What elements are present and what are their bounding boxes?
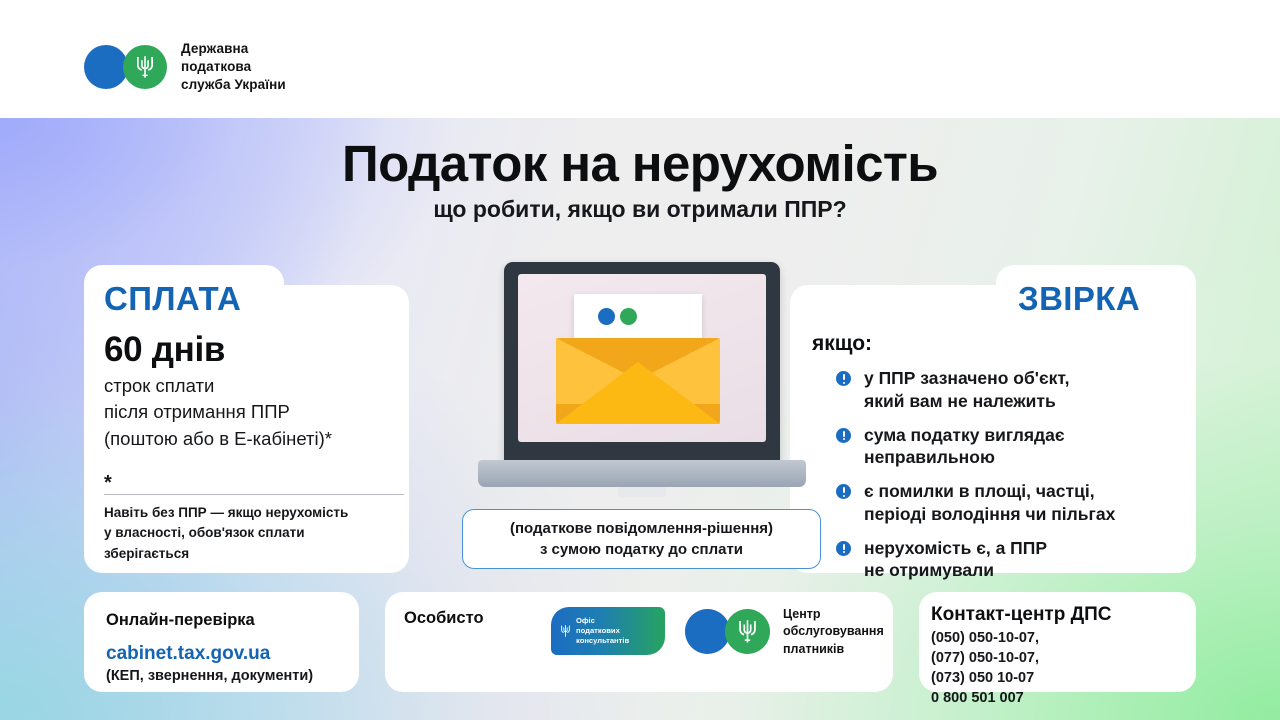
ppr-definition-line1: (податкове повідомлення-рішення) xyxy=(510,520,773,537)
phone-number[interactable]: (050) 050-10-07, xyxy=(931,628,1039,648)
list-item-line1: нерухомість є, а ППР xyxy=(864,538,1047,558)
page-title: Податок на нерухомість xyxy=(0,134,1280,193)
exclamation-circle-icon xyxy=(836,428,851,443)
logo-text-line1: Державна xyxy=(181,40,286,58)
center-line2: обслуговування xyxy=(783,623,884,640)
trident-icon xyxy=(560,624,571,638)
exclamation-circle-icon xyxy=(836,541,851,556)
logo-text-line2: податкова xyxy=(181,58,286,76)
cop-green-circle-icon xyxy=(725,609,770,654)
logo-green-circle-icon xyxy=(123,45,167,89)
exclamation-circle-icon xyxy=(836,484,851,499)
letter-dot-blue-icon xyxy=(598,308,615,325)
cabinet-link[interactable]: cabinet.tax.gov.ua xyxy=(106,643,270,665)
badge-line1: Офіс xyxy=(576,616,629,626)
ppr-definition-box: (податкове повідомлення-рішення) з сумою… xyxy=(462,509,821,569)
center-line1: Центр xyxy=(783,606,884,623)
laptop-hinge xyxy=(618,487,666,497)
list-item-line1: у ППР зазначено об'єкт, xyxy=(864,368,1069,388)
list-item: у ППР зазначено об'єкт, який вам не нале… xyxy=(836,367,1196,413)
badge-line3: консультантів xyxy=(576,636,629,646)
reconciliation-list: у ППР зазначено об'єкт, який вам не нале… xyxy=(836,367,1196,593)
online-check-heading: Онлайн-перевірка xyxy=(106,611,255,630)
list-item: нерухомість є, а ППР не отримували xyxy=(836,537,1196,583)
logo-text-line3: служба України xyxy=(181,76,286,94)
laptop-icon: ППР xyxy=(478,262,806,500)
letter-dot-green-icon xyxy=(620,308,637,325)
exclamation-circle-icon xyxy=(836,371,851,386)
online-check-sub: (КЕП, звернення, документи) xyxy=(106,668,313,684)
ppr-definition-line2: з сумою податку до сплати xyxy=(540,541,743,558)
list-item-text: нерухомість є, а ППР не отримували xyxy=(864,537,1047,583)
list-item-text: є помилки в площі, частці, періоді волод… xyxy=(864,480,1115,526)
taxpayer-service-center-text: Центр обслуговування платників xyxy=(783,606,884,658)
in-person-heading: Особисто xyxy=(404,609,484,628)
footnote-asterisk: * xyxy=(104,472,112,495)
payment-deadline-value: 60 днів xyxy=(104,330,225,370)
payment-description: строк сплати після отримання ППР (поштою… xyxy=(104,373,404,452)
list-item: сума податку виглядає неправильною xyxy=(836,424,1196,470)
infographic-root: Державна податкова служба України Подато… xyxy=(0,0,1280,720)
dps-logo: Державна податкова служба України xyxy=(84,40,286,95)
cop-blue-circle-icon xyxy=(685,609,730,654)
trident-icon xyxy=(135,54,155,80)
badge-line2: податкових xyxy=(576,626,629,636)
payment-footnote-line1: Навіть без ППР — якщо нерухомість xyxy=(104,503,414,523)
list-item-line2: не отримували xyxy=(864,560,994,580)
center-line3: платників xyxy=(783,641,884,658)
tax-consultants-office-text: Офіс податкових консультантів xyxy=(576,616,629,646)
list-item-line2: який вам не належить xyxy=(864,391,1056,411)
payment-desc-line2: після отримання ППР xyxy=(104,399,404,425)
phone-number[interactable]: 0 800 501 007 xyxy=(931,688,1039,708)
letter-logo-dots xyxy=(598,308,637,325)
reconciliation-tab-label: ЗВІРКА xyxy=(1018,280,1140,318)
list-item-line1: є помилки в площі, частці, xyxy=(864,481,1095,501)
laptop-base xyxy=(478,460,806,487)
payment-footnote: Навіть без ППР — якщо нерухомість у влас… xyxy=(104,503,414,564)
logo-text: Державна податкова служба України xyxy=(181,40,286,95)
header-band: Державна податкова служба України xyxy=(0,0,1280,118)
laptop-screen: ППР xyxy=(518,274,766,442)
list-item-line2: неправильною xyxy=(864,447,995,467)
contact-phone-list: (050) 050-10-07, (077) 050-10-07, (073) … xyxy=(931,628,1039,708)
contact-center-heading: Контакт-центр ДПС xyxy=(931,604,1112,626)
list-item-text: сума податку виглядає неправильною xyxy=(864,424,1065,470)
list-item-line1: сума податку виглядає xyxy=(864,425,1065,445)
phone-number[interactable]: (077) 050-10-07, xyxy=(931,648,1039,668)
list-item-text: у ППР зазначено об'єкт, який вам не нале… xyxy=(864,367,1069,413)
payment-tab-label: СПЛАТА xyxy=(104,280,241,318)
ppr-definition-text: (податкове повідомлення-рішення) з сумою… xyxy=(510,518,773,560)
payment-footnote-line2: у власності, обов'язок сплати xyxy=(104,523,414,543)
payment-footnote-line3: зберігається xyxy=(104,544,414,564)
footnote-divider xyxy=(104,494,404,495)
taxpayer-service-center-logo: Центр обслуговування платників xyxy=(685,606,884,658)
logo-blue-circle-icon xyxy=(84,45,128,89)
trident-icon xyxy=(737,618,758,645)
payment-desc-line3: (поштою або в Е-кабінеті)* xyxy=(104,426,404,452)
list-item: є помилки в площі, частці, періоді волод… xyxy=(836,480,1196,526)
payment-desc-line1: строк сплати xyxy=(104,373,404,399)
page-subtitle: що робити, якщо ви отримали ППР? xyxy=(0,196,1280,223)
tax-consultants-office-badge: Офіс податкових консультантів xyxy=(551,607,665,655)
envelope-front-icon xyxy=(556,362,720,424)
list-item-line2: періоді володіння чи пільгах xyxy=(864,504,1115,524)
phone-number[interactable]: (073) 050 10-07 xyxy=(931,668,1039,688)
reconciliation-condition-label: якщо: xyxy=(812,332,872,356)
laptop-lid: ППР xyxy=(504,262,780,465)
